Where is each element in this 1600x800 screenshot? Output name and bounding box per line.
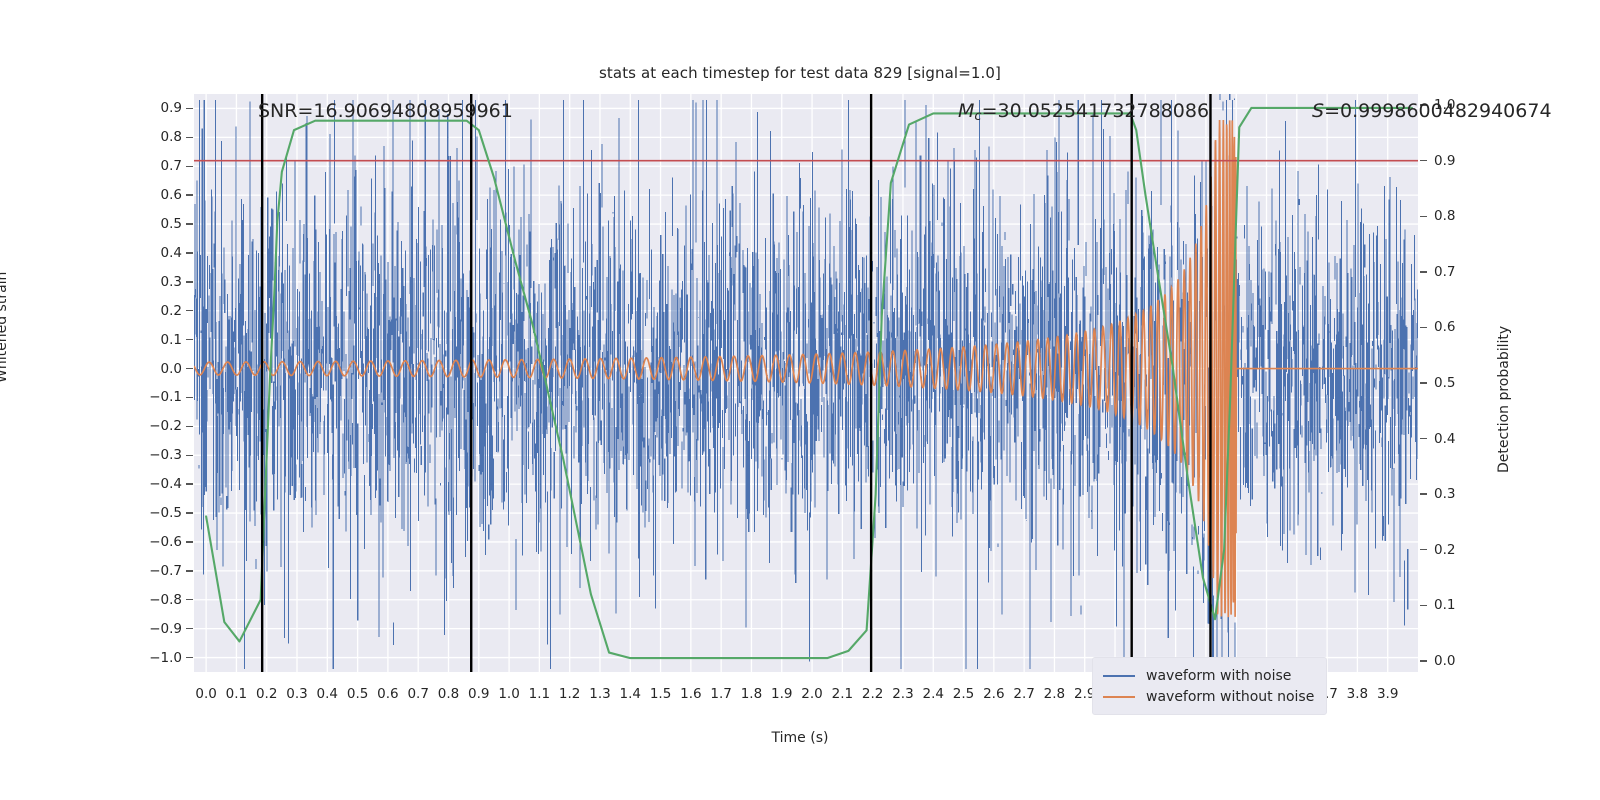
annotation-score: S=0.9998600482940674	[1312, 100, 1552, 122]
x-tick-label: 1.1	[529, 686, 550, 702]
y-tick-label-right: 0.1	[1434, 597, 1455, 613]
y-tick-label-left: −0.3	[149, 447, 182, 463]
x-tick-label: 1.6	[680, 686, 701, 702]
x-tick-label: 0.5	[347, 686, 368, 702]
y-tick-mark-right	[1420, 660, 1427, 661]
y-tick-label-left: −0.4	[149, 476, 182, 492]
x-tick-label: 2.4	[922, 686, 943, 702]
annotation-chirp-mass: Mc=30.052541732788086	[958, 100, 1209, 124]
x-tick-label: 0.3	[286, 686, 307, 702]
legend-label: waveform with noise	[1146, 668, 1291, 684]
y-tick-label-left: 0.3	[161, 274, 182, 290]
x-tick-label: 2.1	[832, 686, 853, 702]
annotation-layer	[194, 94, 1418, 672]
y-tick-mark-right	[1420, 382, 1427, 383]
y-tick-label-left: −0.5	[149, 505, 182, 521]
snr-value: 16.90694808959961	[313, 100, 512, 122]
x-tick-label: 2.2	[862, 686, 883, 702]
y-tick-mark-left	[186, 223, 193, 224]
legend[interactable]: waveform with noisewaveform without nois…	[1092, 657, 1327, 715]
x-tick-label: 3.9	[1377, 686, 1398, 702]
y-tick-label-left: −0.8	[149, 592, 182, 608]
y-tick-mark-left	[186, 281, 193, 282]
legend-swatch-icon	[1103, 675, 1135, 677]
x-tick-label: 0.4	[317, 686, 338, 702]
x-tick-label: 0.9	[468, 686, 489, 702]
y-tick-mark-left	[186, 166, 193, 167]
y-tick-mark-left	[186, 137, 193, 138]
x-tick-label: 0.2	[256, 686, 277, 702]
s-equals: =	[1324, 100, 1340, 122]
y-tick-mark-right	[1420, 271, 1427, 272]
y-tick-mark-left	[186, 628, 193, 629]
y-tick-label-left: 0.0	[161, 361, 182, 377]
y-tick-mark-left	[186, 483, 193, 484]
page-title: stats at each timestep for test data 829…	[0, 64, 1600, 82]
y-tick-label-left: −0.6	[149, 534, 182, 550]
y-tick-label-left: −0.1	[149, 389, 182, 405]
annotation-snr: SNR=16.90694808959961	[258, 100, 513, 122]
y-tick-mark-left	[186, 252, 193, 253]
y-tick-label-right: 0.6	[1434, 319, 1455, 335]
legend-label: waveform without noise	[1146, 689, 1314, 705]
y-tick-mark-left	[186, 599, 193, 600]
figure-canvas: stats at each timestep for test data 829…	[0, 0, 1600, 800]
y-tick-mark-left	[186, 368, 193, 369]
mc-value: 30.052541732788086	[997, 100, 1209, 122]
y-tick-mark-left	[186, 310, 193, 311]
y-tick-mark-right	[1420, 216, 1427, 217]
y-tick-mark-left	[186, 194, 193, 195]
x-tick-label: 0.7	[407, 686, 428, 702]
y-tick-label-left: 0.2	[161, 303, 182, 319]
y-tick-mark-right	[1420, 160, 1427, 161]
y-tick-label-right: 0.4	[1434, 431, 1455, 447]
snr-label: SNR=	[258, 100, 313, 122]
legend-swatch-icon	[1103, 696, 1135, 698]
y-tick-label-left: 0.1	[161, 332, 182, 348]
y-tick-mark-right	[1420, 493, 1427, 494]
y-tick-label-right: 0.2	[1434, 542, 1455, 558]
y-axis-left-label: Whitened strain	[0, 272, 10, 383]
y-tick-label-right: 0.7	[1434, 264, 1455, 280]
y-tick-mark-left	[186, 657, 193, 658]
x-axis-label: Time (s)	[0, 730, 1600, 746]
y-tick-mark-left	[186, 541, 193, 542]
x-tick-label: 0.8	[438, 686, 459, 702]
y-tick-label-left: 0.9	[161, 100, 182, 116]
y-tick-label-left: 0.8	[161, 129, 182, 145]
x-tick-label: 1.2	[559, 686, 580, 702]
y-tick-label-left: 0.5	[161, 216, 182, 232]
x-tick-label: 1.8	[741, 686, 762, 702]
y-axis-right-label: Detection probability	[1496, 326, 1512, 473]
y-tick-label-left: 0.7	[161, 158, 182, 174]
y-tick-label-left: −0.9	[149, 621, 182, 637]
x-tick-label: 2.6	[983, 686, 1004, 702]
y-tick-label-right: 0.0	[1434, 653, 1455, 669]
plot-area[interactable]	[194, 94, 1418, 672]
x-tick-label: 1.7	[710, 686, 731, 702]
x-tick-label: 0.6	[377, 686, 398, 702]
y-tick-label-right: 0.8	[1434, 208, 1455, 224]
mc-subscript: c	[974, 109, 981, 124]
y-tick-label-right: 0.9	[1434, 153, 1455, 169]
legend-item[interactable]: waveform without noise	[1103, 686, 1314, 707]
x-tick-label: 1.4	[620, 686, 641, 702]
y-tick-mark-left	[186, 426, 193, 427]
legend-item[interactable]: waveform with noise	[1103, 665, 1314, 686]
mc-symbol: M	[958, 100, 974, 122]
x-tick-label: 0.1	[226, 686, 247, 702]
y-tick-label-right: 0.5	[1434, 375, 1455, 391]
y-tick-mark-left	[186, 397, 193, 398]
y-tick-label-left: −1.0	[149, 650, 182, 666]
s-symbol: S	[1312, 100, 1324, 122]
y-tick-mark-right	[1420, 327, 1427, 328]
y-tick-mark-left	[186, 512, 193, 513]
x-tick-label: 2.3	[892, 686, 913, 702]
x-tick-label: 2.7	[1013, 686, 1034, 702]
y-tick-mark-left	[186, 339, 193, 340]
x-tick-label: 2.5	[953, 686, 974, 702]
y-tick-label-right: 0.3	[1434, 486, 1455, 502]
y-tick-label-left: −0.2	[149, 418, 182, 434]
y-tick-label-left: 0.4	[161, 245, 182, 261]
y-tick-mark-left	[186, 455, 193, 456]
s-value: 0.9998600482940674	[1340, 100, 1552, 122]
y-tick-mark-right	[1420, 549, 1427, 550]
y-tick-label-left: 0.6	[161, 187, 182, 203]
x-tick-label: 1.0	[498, 686, 519, 702]
y-tick-label-left: −0.7	[149, 563, 182, 579]
x-tick-label: 1.3	[589, 686, 610, 702]
x-tick-label: 1.5	[650, 686, 671, 702]
y-tick-mark-left	[186, 108, 193, 109]
y-tick-mark-right	[1420, 438, 1427, 439]
mc-equals: =	[982, 100, 998, 122]
x-tick-label: 1.9	[771, 686, 792, 702]
x-tick-label: 2.8	[1044, 686, 1065, 702]
y-tick-mark-right	[1420, 605, 1427, 606]
x-tick-label: 0.0	[195, 686, 216, 702]
x-tick-label: 2.0	[801, 686, 822, 702]
y-tick-mark-left	[186, 570, 193, 571]
x-tick-label: 3.8	[1347, 686, 1368, 702]
